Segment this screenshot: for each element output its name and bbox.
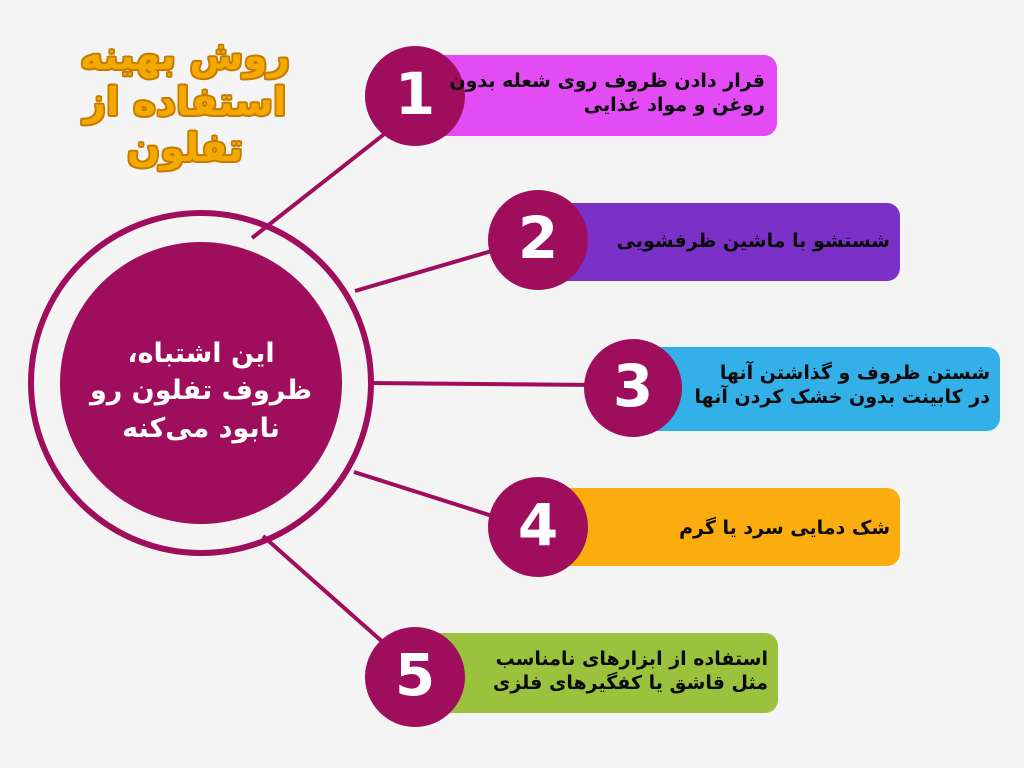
- item-label-4: شک دمایی سرد یا گرم: [570, 517, 890, 541]
- hub-label: این اشتباه، ظروف تفلون رو نابود می‌کنه: [61, 335, 341, 447]
- item-label-1: قرار دادن ظروف روی شعله بدون روغن و مواد…: [455, 70, 765, 118]
- hub-label-line-3: نابود می‌کنه: [61, 410, 341, 447]
- item-label-2-line-1: شستشو با ماشین ظرفشویی: [570, 230, 890, 254]
- item-label-3-line-1: شستن ظروف و گذاشتن آنها: [665, 362, 990, 386]
- item-label-5-line-2: مثل قاشق یا کفگیرهای فلزی: [448, 672, 768, 696]
- hub-label-line-2: ظروف تفلون رو: [61, 372, 341, 409]
- item-label-5-line-1: استفاده از ابزارهای نامناسب: [448, 648, 768, 672]
- item-label-1-line-2: روغن و مواد غذایی: [455, 94, 765, 118]
- item-label-2: شستشو با ماشین ظرفشویی: [570, 230, 890, 254]
- item-label-1-line-1: قرار دادن ظروف روی شعله بدون: [455, 70, 765, 94]
- item-label-5: استفاده از ابزارهای نامناسب مثل قاشق یا …: [448, 648, 768, 696]
- item-label-4-line-1: شک دمایی سرد یا گرم: [570, 517, 890, 541]
- hub-label-line-1: این اشتباه،: [61, 335, 341, 372]
- item-label-3: شستن ظروف و گذاشتن آنها در کابینت بدون خ…: [665, 362, 990, 410]
- item-label-3-line-2: در کابینت بدون خشک کردن آنها: [665, 386, 990, 410]
- infographic-canvas: روش بهینه استفاده از تفلون این اشتباه، ظ…: [0, 0, 1024, 768]
